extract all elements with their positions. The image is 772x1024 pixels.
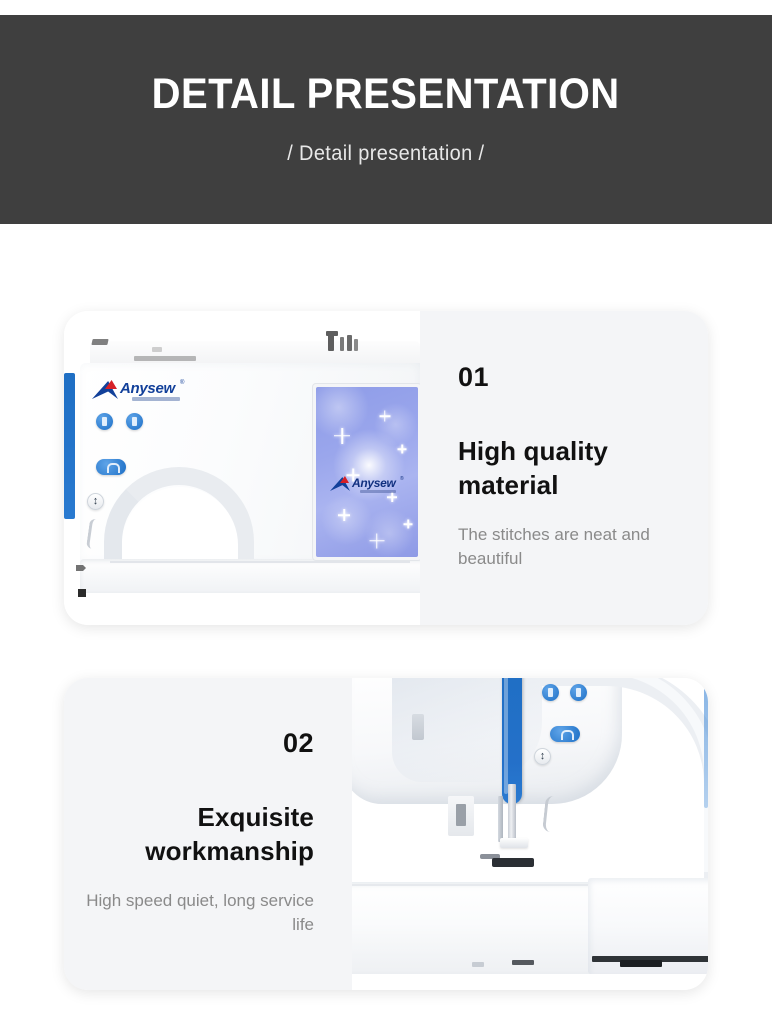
reverse-stitch-button[interactable] bbox=[96, 459, 126, 475]
presser-foot bbox=[492, 858, 534, 867]
lcd-trademark-icon: ® bbox=[400, 476, 404, 482]
faceplate-highlight bbox=[504, 678, 508, 794]
needle-bar bbox=[508, 784, 516, 846]
top-marking-2 bbox=[134, 356, 196, 361]
up-down-needle-button[interactable] bbox=[542, 684, 559, 701]
feature-heading: Exquisite workmanship bbox=[94, 801, 314, 869]
machine-bed-line bbox=[110, 561, 410, 563]
left-blue-strip bbox=[64, 373, 75, 519]
feature-card-02[interactable]: 02 Exquisite workmanship High speed quie… bbox=[64, 678, 708, 990]
right-edge-blue-accent bbox=[704, 688, 708, 808]
reverse-stitch-button[interactable] bbox=[550, 726, 580, 742]
product-image-closeup bbox=[352, 678, 708, 990]
brand-swoosh-icon bbox=[92, 381, 118, 399]
machine-hook-bar bbox=[412, 714, 424, 740]
sparkle-icon bbox=[398, 445, 407, 454]
brand-tagline bbox=[132, 397, 180, 401]
bed-foot-right bbox=[512, 960, 534, 965]
sparkle-icon bbox=[338, 509, 350, 521]
bed-foot-left bbox=[472, 962, 484, 967]
presser-lift-button[interactable] bbox=[534, 748, 551, 765]
sparkle-icon bbox=[369, 533, 384, 548]
sparkle-icon bbox=[404, 520, 413, 529]
brand-logo: Anysew ® bbox=[92, 377, 204, 405]
feature-card-01[interactable]: Anysew ® bbox=[64, 311, 708, 625]
feature-text-panel-02: 02 Exquisite workmanship High speed quie… bbox=[64, 678, 352, 990]
lcd-swoosh-icon bbox=[330, 477, 350, 491]
page-title: DETAIL PRESENTATION bbox=[152, 73, 620, 116]
lcd-brand-logo: Anysew ® bbox=[330, 475, 412, 495]
product-image-front: Anysew ® bbox=[64, 311, 420, 625]
feature-heading: High quality material bbox=[458, 435, 668, 503]
presser-lift-button[interactable] bbox=[87, 493, 104, 510]
thread-cutter-button[interactable] bbox=[126, 413, 143, 430]
feature-description: High speed quiet, long service life bbox=[64, 889, 314, 938]
sparkle-icon bbox=[334, 428, 350, 444]
section-header-banner: DETAIL PRESENTATION / Detail presentatio… bbox=[0, 15, 772, 224]
up-down-needle-button[interactable] bbox=[96, 413, 113, 430]
machine-curved-arm-highlight bbox=[548, 678, 708, 872]
thread-cutter-button[interactable] bbox=[570, 684, 587, 701]
bed-dark-accent bbox=[620, 960, 662, 967]
feature-number: 01 bbox=[458, 364, 489, 391]
lcd-wordmark: Anysew bbox=[352, 477, 396, 489]
presser-foot-holder bbox=[500, 838, 528, 848]
product-detail-page: DETAIL PRESENTATION / Detail presentatio… bbox=[0, 0, 772, 1024]
page-subtitle: / Detail presentation / bbox=[287, 142, 484, 166]
lcd-display[interactable]: Anysew ® bbox=[316, 387, 418, 557]
side-marking-2 bbox=[78, 589, 86, 597]
machine-bed bbox=[80, 559, 420, 593]
top-marking-3 bbox=[152, 347, 162, 352]
spool-pin-icon bbox=[326, 331, 360, 351]
needle-plate-slot bbox=[456, 804, 466, 826]
brand-wordmark: Anysew bbox=[120, 381, 175, 396]
feature-text-panel-01: 01 High quality material The stitches ar… bbox=[420, 311, 708, 625]
brand-trademark-icon: ® bbox=[180, 380, 184, 386]
lcd-screen-bezel: Anysew ® bbox=[312, 383, 420, 561]
feature-description: The stitches are neat and beautiful bbox=[458, 523, 708, 572]
sparkle-icon bbox=[379, 411, 390, 422]
feature-number: 02 bbox=[283, 730, 314, 757]
lcd-tagline bbox=[360, 490, 396, 493]
top-marking-1 bbox=[91, 339, 108, 345]
needle-bar-secondary bbox=[498, 796, 503, 842]
